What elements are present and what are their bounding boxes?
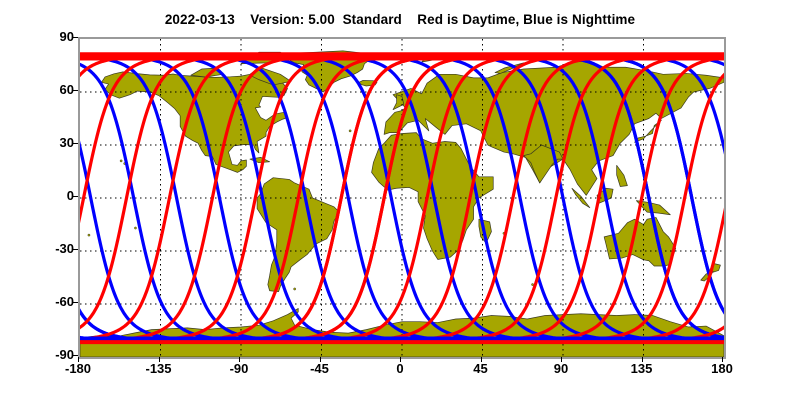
x-tick-label-135: 135 — [607, 362, 677, 375]
y-tick-mark--90 — [73, 355, 78, 356]
x-tick-label-45: 45 — [446, 362, 516, 375]
x-tick-label--45: -45 — [285, 362, 355, 375]
x-tick-mark-135 — [642, 357, 643, 362]
y-tick-mark--60 — [73, 302, 78, 303]
x-tick-mark--90 — [239, 357, 240, 362]
ground-track-figure: 2022-03-13 Version: 5.00 Standard Red is… — [0, 0, 800, 400]
x-tick-mark--135 — [159, 357, 160, 362]
y-tick-mark-0 — [73, 196, 78, 197]
x-tick-mark-180 — [722, 357, 723, 362]
x-tick-mark-0 — [400, 357, 401, 362]
x-tick-mark-90 — [561, 357, 562, 362]
x-axis-labels: -180-135-90-4504590135180 — [0, 0, 800, 400]
x-tick-mark-45 — [481, 357, 482, 362]
x-tick-label-0: 0 — [365, 362, 435, 375]
x-tick-label--180: -180 — [43, 362, 113, 375]
x-tick-mark--180 — [78, 357, 79, 362]
x-tick-label-90: 90 — [526, 362, 596, 375]
y-tick-mark-60 — [73, 90, 78, 91]
y-tick-mark--30 — [73, 249, 78, 250]
x-tick-mark--45 — [320, 357, 321, 362]
x-tick-label--135: -135 — [124, 362, 194, 375]
y-tick-mark-90 — [73, 37, 78, 38]
y-tick-mark-30 — [73, 143, 78, 144]
x-tick-label-180: 180 — [687, 362, 757, 375]
x-tick-label--90: -90 — [204, 362, 274, 375]
